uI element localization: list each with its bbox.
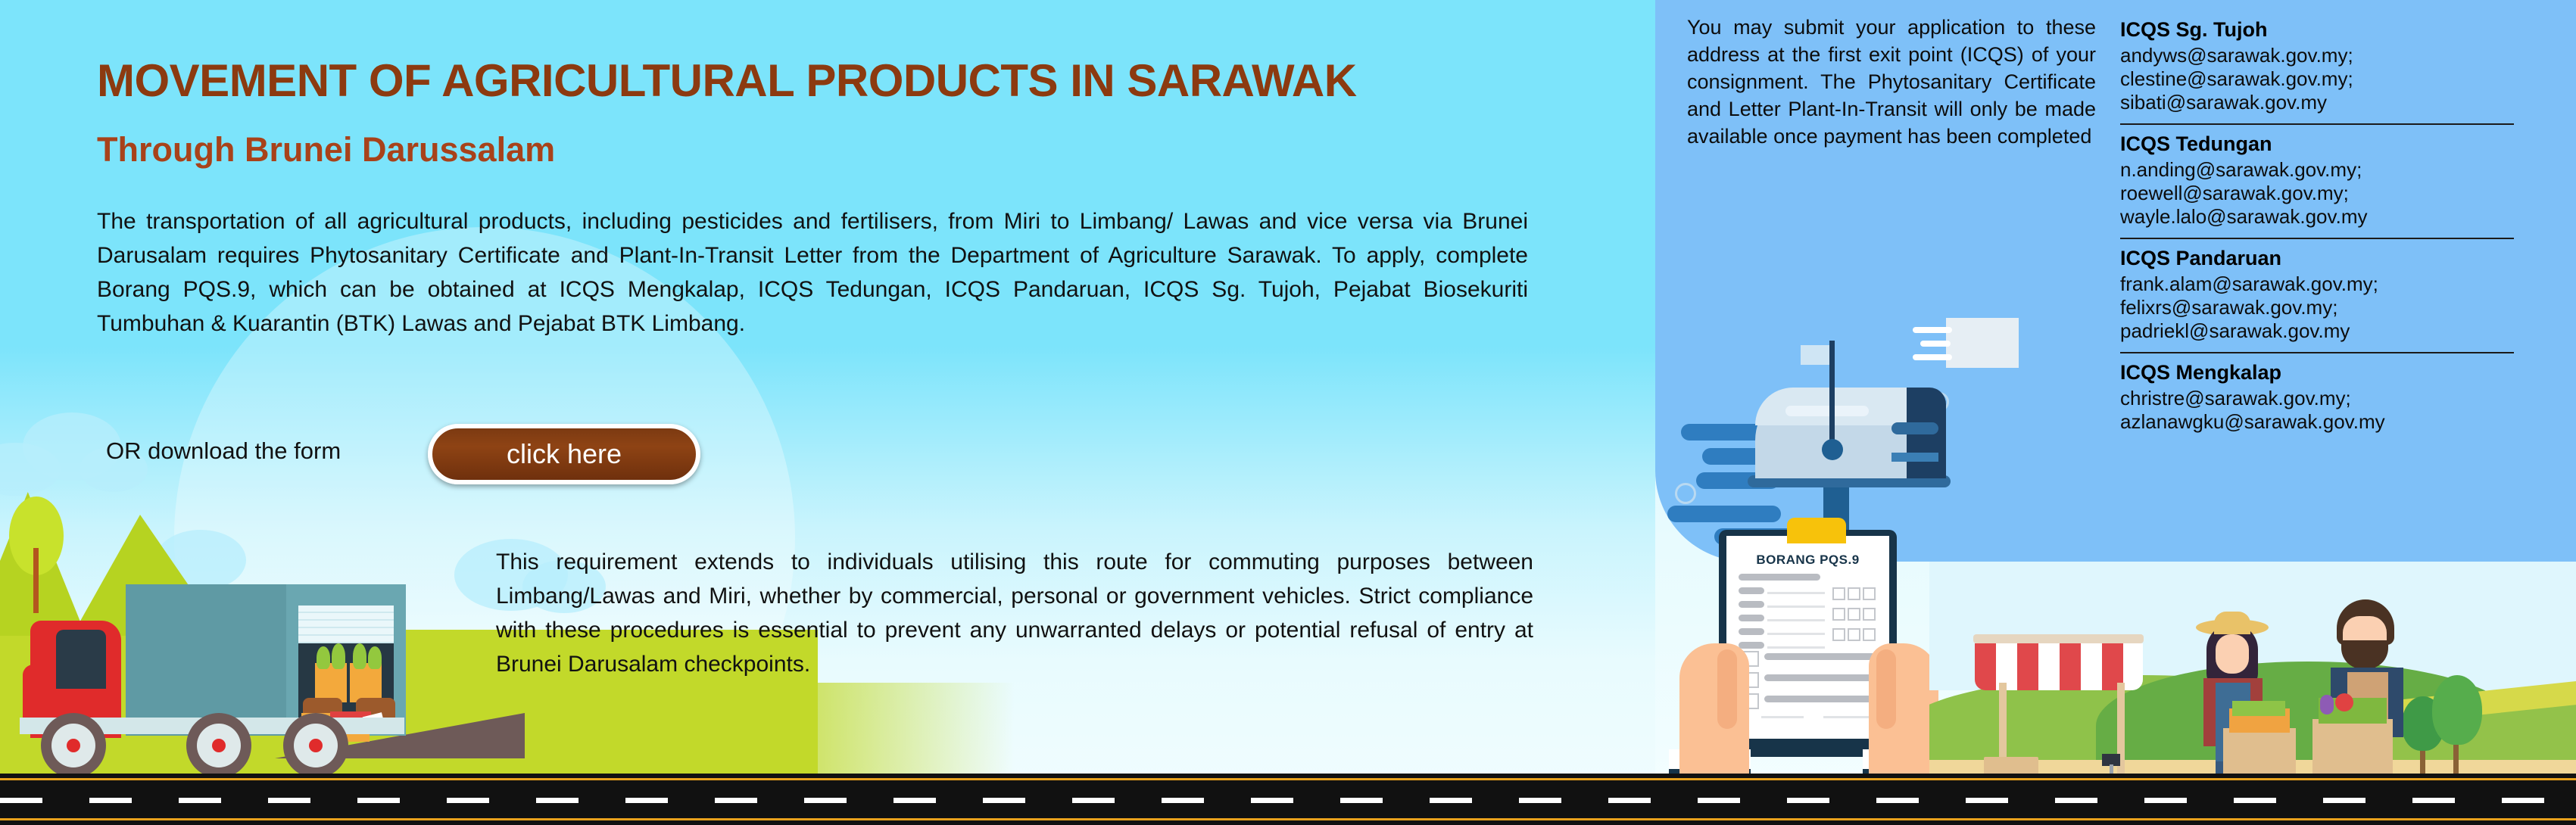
mailbox-flag-pole — [1829, 341, 1835, 454]
road-edge-line-top — [0, 778, 2576, 780]
icqs-email[interactable]: andyws@sarawak.gov.my; — [2120, 44, 2556, 67]
form-checkbox[interactable] — [1848, 628, 1860, 641]
bubble-ring-1 — [1675, 483, 1696, 504]
road-strip — [0, 774, 2576, 825]
farmer-woman-greens — [2232, 701, 2285, 716]
form-field-bar — [1764, 674, 1878, 681]
page-subheadline: Through Brunei Darussalam — [97, 130, 555, 170]
icqs-email[interactable]: frank.alam@sarawak.gov.my; — [2120, 272, 2556, 296]
form-checkbox[interactable] — [1863, 587, 1876, 600]
icqs-email[interactable]: padriekl@sarawak.gov.my — [2120, 319, 2556, 343]
icqs-email[interactable]: clestine@sarawak.gov.my; — [2120, 67, 2556, 91]
vegetable-leaf-1 — [317, 646, 330, 669]
icqs-email[interactable]: roewell@sarawak.gov.my; — [2120, 182, 2556, 205]
icqs-title: ICQS Mengkalap — [2120, 358, 2556, 387]
form-checkbox[interactable] — [1863, 628, 1876, 641]
divider — [2120, 352, 2514, 353]
form-field-bar — [1739, 601, 1764, 608]
farmer-woman-hat-crown — [2214, 612, 2250, 634]
icqs-email[interactable]: n.anding@sarawak.gov.my; — [2120, 158, 2556, 182]
delivery-truck-illustration — [14, 568, 415, 780]
farmer-man-eggplant — [2320, 695, 2334, 714]
envelope-motion-line-1 — [1913, 327, 1952, 333]
form-field-bar — [1739, 628, 1764, 635]
form-checkbox[interactable] — [1848, 587, 1860, 600]
farmer-man-beard — [2341, 640, 2388, 669]
vegetable-leaf-4 — [368, 646, 382, 669]
divider — [2120, 238, 2514, 239]
form-rule — [1767, 619, 1825, 621]
vegetable-leaf-2 — [332, 643, 345, 669]
icqs-contact-block: ICQS Sg. Tujoh andyws@sarawak.gov.my; cl… — [2120, 15, 2556, 119]
truck-window — [56, 630, 106, 689]
main-paragraph-2: This requirement extends to individuals … — [496, 545, 1533, 681]
icqs-contact-block: ICQS Pandaruan frank.alam@sarawak.gov.my… — [2120, 244, 2556, 347]
form-checkbox[interactable] — [1832, 587, 1845, 600]
truck-wheel-mid — [186, 713, 251, 778]
form-rule — [1767, 633, 1825, 635]
clipboard-clip — [1787, 518, 1846, 543]
icqs-email[interactable]: wayle.lalo@sarawak.gov.my — [2120, 205, 2556, 229]
form-signature-line — [1823, 716, 1869, 718]
mailbox-slot — [1891, 422, 1938, 434]
icqs-contact-list: ICQS Sg. Tujoh andyws@sarawak.gov.my; cl… — [2120, 15, 2556, 438]
submission-note: You may submit your application to these… — [1687, 14, 2096, 150]
form-title-label: BORANG PQS.9 — [1726, 553, 1889, 568]
road-edge-line-bottom — [0, 818, 2576, 820]
icqs-email[interactable]: christre@sarawak.gov.my; — [2120, 387, 2556, 410]
form-rule — [1767, 646, 1825, 649]
envelope-motion-line-3 — [1913, 354, 1952, 360]
form-field-bar — [1764, 696, 1878, 702]
divider — [2120, 123, 2514, 125]
form-checkbox[interactable] — [1848, 608, 1860, 621]
form-rule — [1767, 592, 1825, 594]
icqs-title: ICQS Pandaruan — [2120, 244, 2556, 272]
icqs-title: ICQS Tedungan — [2120, 129, 2556, 158]
market-stall-roof — [1973, 634, 2144, 643]
form-field-bar — [1739, 574, 1820, 581]
mailbox-stripe — [1785, 406, 1869, 416]
icqs-contact-block: ICQS Tedungan n.anding@sarawak.gov.my; r… — [2120, 129, 2556, 233]
form-field-bar — [1739, 587, 1764, 594]
download-prompt-label: OR download the form — [106, 437, 341, 465]
mailbox-slot-lower — [1891, 453, 1938, 462]
main-paragraph-1: The transportation of all agricultural p… — [97, 204, 1528, 341]
infographic-banner: MOVEMENT OF AGRICULTURAL PRODUCTS IN SAR… — [0, 0, 2576, 825]
envelope-motion-line-2 — [1920, 341, 1951, 347]
form-checkbox[interactable] — [1863, 608, 1876, 621]
icqs-title: ICQS Sg. Tujoh — [2120, 15, 2556, 44]
icqs-email[interactable]: felixrs@sarawak.gov.my; — [2120, 296, 2556, 319]
mailbox-flag-knob — [1822, 439, 1843, 460]
farm-tree-foliage-2 — [2432, 675, 2482, 745]
road-dashed-center-line — [0, 798, 2576, 803]
click-here-button[interactable]: click here — [428, 424, 700, 484]
page-headline: MOVEMENT OF AGRICULTURAL PRODUCTS IN SAR… — [97, 54, 1357, 107]
icqs-email[interactable]: azlanawgku@sarawak.gov.my — [2120, 410, 2556, 434]
form-field-bar — [1739, 642, 1764, 649]
vegetable-leaf-3 — [353, 643, 366, 669]
form-checkbox[interactable] — [1832, 608, 1845, 621]
envelope-icon — [1946, 318, 2019, 368]
form-rule — [1767, 606, 1825, 608]
form-field-bar — [1739, 615, 1764, 621]
left-thumb — [1717, 649, 1737, 729]
motion-streak-4 — [1667, 506, 1781, 522]
truck-wheel-rear — [283, 713, 348, 778]
form-checkbox[interactable] — [1832, 628, 1845, 641]
farmer-woman-face — [2216, 634, 2249, 674]
icqs-email[interactable]: sibati@sarawak.gov.my — [2120, 91, 2556, 114]
form-field-bar — [1764, 653, 1878, 660]
mailbox-flag — [1801, 345, 1832, 365]
truck-wheel-front — [41, 713, 106, 778]
truck-roller-shutter — [298, 606, 394, 643]
icqs-contact-block: ICQS Mengkalap christre@sarawak.gov.my; … — [2120, 358, 2556, 438]
farmer-man-crate — [2312, 719, 2393, 775]
form-signature-line — [1761, 716, 1804, 718]
right-thumb — [1876, 649, 1896, 729]
farmer-man-tomato — [2335, 693, 2353, 711]
